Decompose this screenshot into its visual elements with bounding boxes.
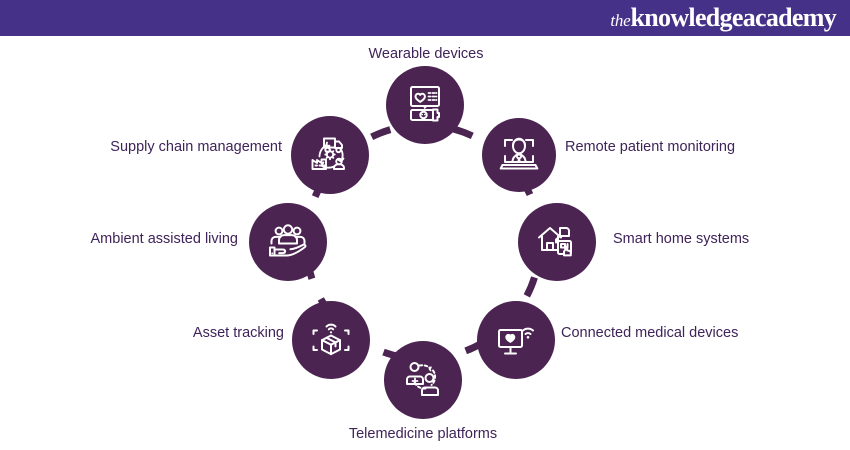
monitor-heart-wifi-icon (493, 317, 539, 363)
node-remote-patient-monitoring[interactable] (482, 118, 556, 192)
label-remote-patient-monitoring: Remote patient monitoring (565, 139, 735, 156)
label-telemedicine-platforms: Telemedicine platforms (307, 426, 539, 443)
node-wearable-devices[interactable] (386, 66, 464, 144)
house-camera-control-panel-icon (534, 219, 580, 265)
label-ambient-assisted-living: Ambient assisted living (30, 231, 238, 248)
label-supply-chain-management: Supply chain management (20, 139, 282, 156)
smartwatch-heartrate-icon (402, 82, 448, 128)
node-asset-tracking[interactable] (292, 301, 370, 379)
header-bar: theknowledgeacademy (0, 0, 850, 36)
brand-logo: theknowledgeacademy (610, 5, 836, 31)
node-smart-home-systems[interactable] (518, 203, 596, 281)
node-telemedicine-platforms[interactable] (384, 341, 462, 419)
laptop-doctor-icon (496, 132, 542, 178)
two-people-remote-consult-icon (400, 357, 446, 403)
truck-factory-gear-cycle-icon (307, 132, 353, 178)
package-wifi-crosshair-icon (308, 317, 354, 363)
node-connected-medical-devices[interactable] (477, 301, 555, 379)
brand-logo-the: the (610, 12, 630, 29)
label-asset-tracking: Asset tracking (60, 325, 284, 342)
label-connected-medical-devices: Connected medical devices (561, 325, 738, 342)
cycle-diagram: Wearable devices Remote patient monitori… (0, 36, 850, 450)
label-smart-home-systems: Smart home systems (613, 231, 749, 248)
label-wearable-devices: Wearable devices (310, 46, 542, 63)
hand-holding-people-icon (265, 219, 311, 265)
brand-logo-name: knowledgeacademy (631, 5, 836, 31)
node-supply-chain-management[interactable] (291, 116, 369, 194)
node-ambient-assisted-living[interactable] (249, 203, 327, 281)
